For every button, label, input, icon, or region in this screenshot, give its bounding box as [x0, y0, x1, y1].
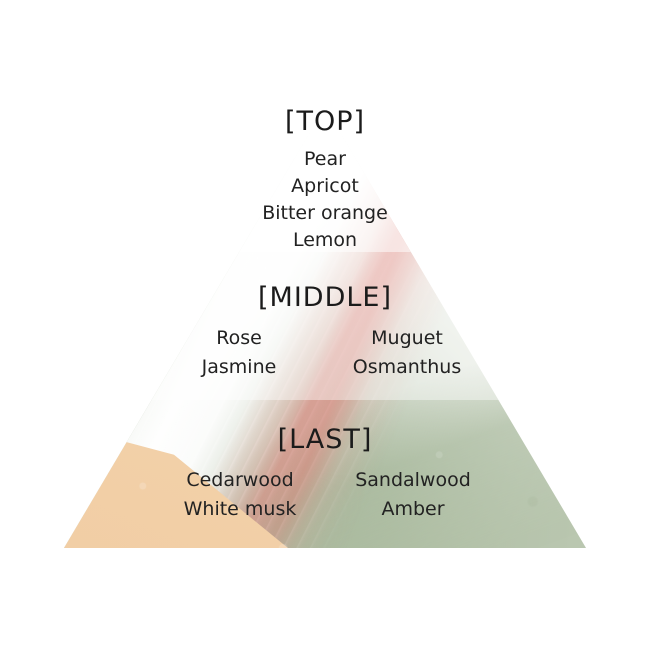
note-rose: Rose — [163, 324, 315, 353]
note-lemon: Lemon — [0, 227, 650, 254]
section-last-notes: Cedarwood White musk Sandalwood Amber — [0, 466, 650, 523]
note-osmanthus: Osmanthus — [327, 353, 487, 382]
note-cedarwood: Cedarwood — [157, 466, 323, 495]
section-last-heading: [LAST] — [0, 426, 650, 453]
note-apricot: Apricot — [0, 173, 650, 200]
section-last-column-right: Sandalwood Amber — [333, 466, 493, 523]
note-pear: Pear — [0, 146, 650, 173]
section-middle-column-left: Rose Jasmine — [163, 324, 315, 381]
note-white-musk: White musk — [157, 495, 323, 524]
section-top-heading: [TOP] — [0, 108, 650, 135]
pyramid-stage: [TOP] Pear Apricot Bitter orange Lemon [… — [0, 0, 650, 650]
section-middle-notes: Rose Jasmine Muguet Osmanthus — [0, 324, 650, 381]
section-last: [LAST] Cedarwood White musk Sandalwood A… — [0, 426, 650, 523]
note-muguet: Muguet — [327, 324, 487, 353]
note-jasmine: Jasmine — [163, 353, 315, 382]
section-last-column-left: Cedarwood White musk — [157, 466, 323, 523]
note-amber: Amber — [333, 495, 493, 524]
section-middle-heading: [MIDDLE] — [0, 284, 650, 311]
note-sandalwood: Sandalwood — [333, 466, 493, 495]
note-bitter-orange: Bitter orange — [0, 200, 650, 227]
pyramid-text-layer: [TOP] Pear Apricot Bitter orange Lemon [… — [0, 0, 650, 650]
section-middle-column-right: Muguet Osmanthus — [327, 324, 487, 381]
section-top-notes: Pear Apricot Bitter orange Lemon — [0, 146, 650, 254]
section-middle: [MIDDLE] Rose Jasmine Muguet Osmanthus — [0, 284, 650, 381]
section-top: [TOP] Pear Apricot Bitter orange Lemon — [0, 108, 650, 254]
